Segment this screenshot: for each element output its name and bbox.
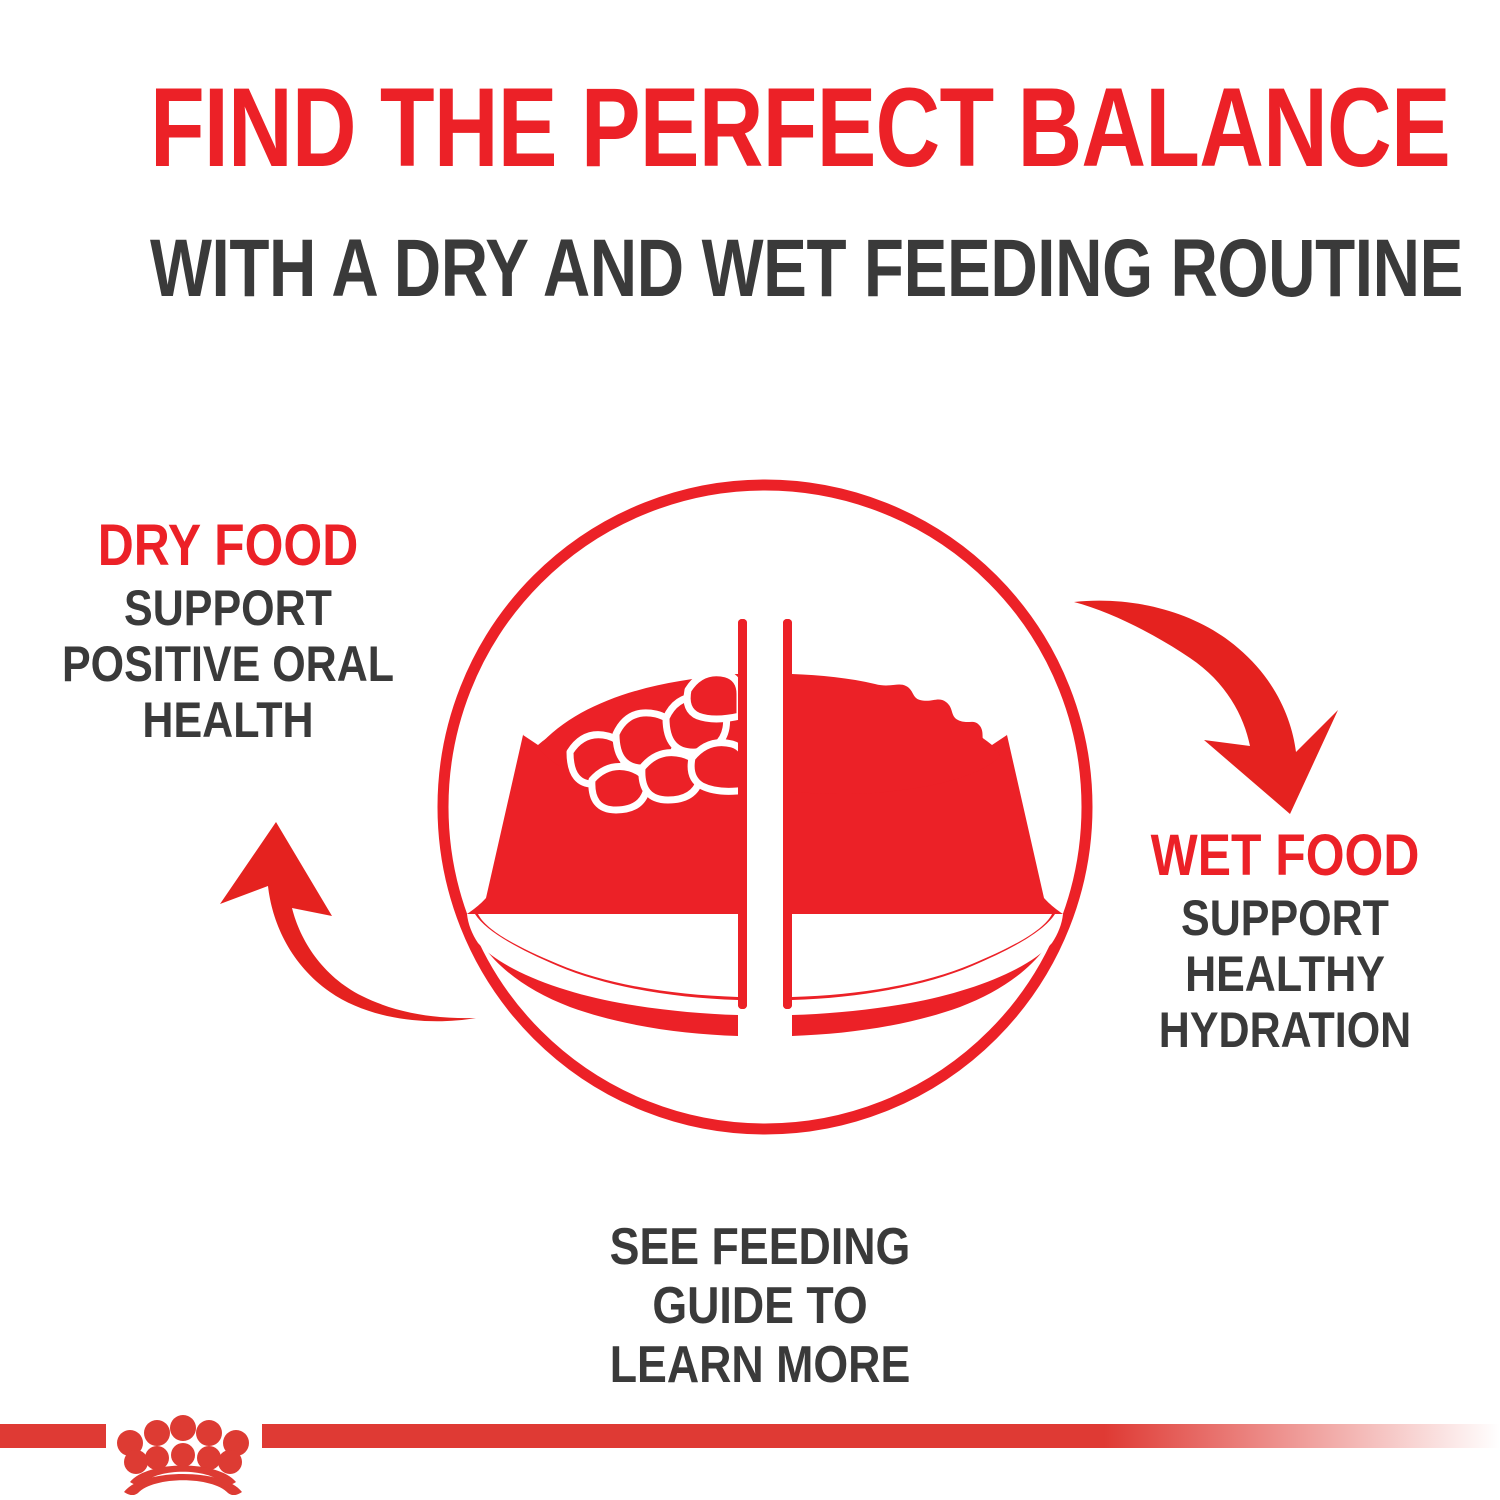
infographic-canvas: FIND THE PERFECT BALANCE WITH A DRY AND … — [0, 0, 1500, 1500]
divider-line-right-top — [783, 619, 792, 1009]
page-title: FIND THE PERFECT BALANCE — [150, 72, 1350, 184]
royal-canin-crown-logo — [108, 1400, 258, 1495]
divider-gap — [747, 619, 783, 1009]
bowl-left-half-dry — [467, 673, 746, 1036]
footer-bar-right — [262, 1424, 1500, 1448]
feeding-guide-caption: SEE FEEDING GUIDE TO LEARN MORE — [502, 1218, 1018, 1394]
dry-food-title: DRY FOOD — [56, 515, 400, 576]
footer-bar-left — [0, 1424, 106, 1448]
footer — [0, 1400, 1500, 1500]
wet-food-description: SUPPORT HEALTHY HYDRATION — [1113, 890, 1457, 1058]
divider-line-left-top — [738, 619, 747, 1009]
page-subtitle: WITH A DRY AND WET FEEDING ROUTINE — [150, 228, 1350, 310]
curved-arrow-down-right-icon — [1070, 580, 1360, 840]
curved-arrow-up-left-icon — [180, 800, 480, 1060]
dry-food-description: SUPPORT POSITIVE ORAL HEALTH — [56, 580, 400, 748]
dry-food-label-group: DRY FOOD SUPPORT POSITIVE ORAL HEALTH — [28, 515, 428, 748]
bowl-right-half-wet — [792, 674, 1063, 1036]
wet-food-label-group: WET FOOD SUPPORT HEALTHY HYDRATION — [1085, 825, 1485, 1058]
split-pet-food-bowl-icon — [420, 462, 1110, 1152]
